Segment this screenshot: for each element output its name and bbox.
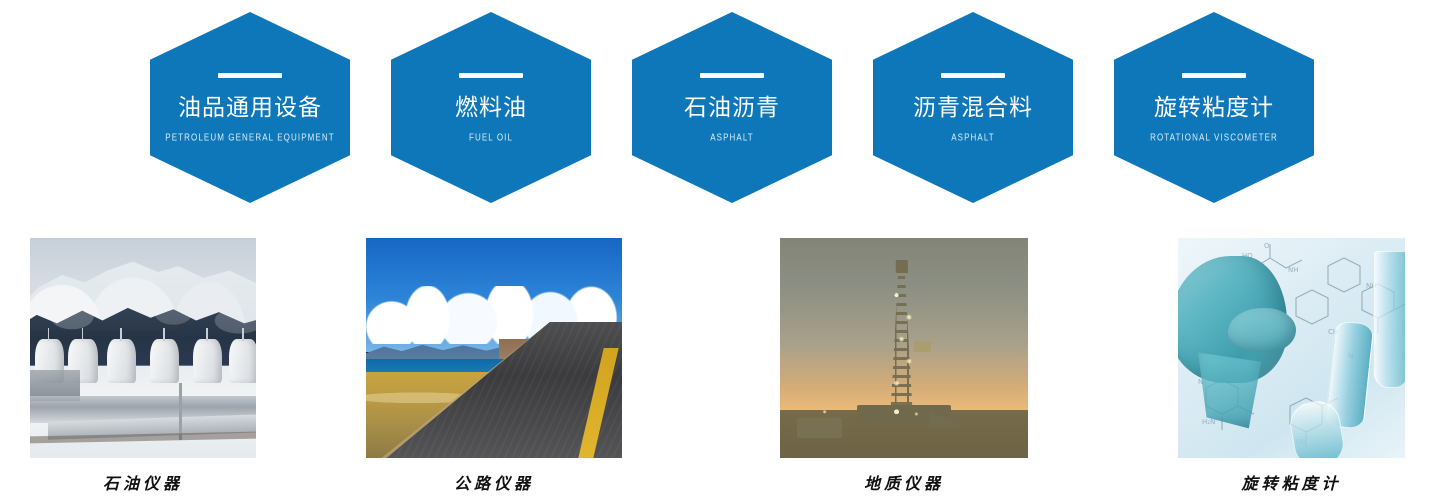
gallery-caption: 旋转粘度计 xyxy=(1178,470,1405,494)
photo-laboratory-glassware: HO NH O NH N H₂N OH CH N xyxy=(1178,238,1405,458)
rig-lights xyxy=(780,238,1028,458)
storage-tank xyxy=(229,339,256,383)
utility-pole xyxy=(179,383,182,440)
svg-text:O: O xyxy=(1264,242,1270,250)
storage-tank xyxy=(107,339,136,383)
gallery-caption: 公路仪器 xyxy=(366,470,622,494)
photo-plateau-highway xyxy=(366,238,622,458)
glove-fingers xyxy=(1228,308,1296,352)
svg-text:NH: NH xyxy=(1288,266,1299,274)
storage-tank xyxy=(193,339,222,383)
photo-gallery: 石油仪器 公路仪器 xyxy=(0,0,1440,500)
gallery-caption: 石油仪器 xyxy=(30,470,256,494)
photo-drilling-rig-sunset xyxy=(780,238,1028,458)
page-root: 油品通用设备 PETROLEUM GENERAL EQUIPMENT 燃料油 F… xyxy=(0,0,1440,500)
svg-text:H₂N: H₂N xyxy=(1202,418,1215,426)
gallery-card-petroleum-instruments[interactable]: 石油仪器 xyxy=(30,238,256,494)
gallery-card-highway-instruments[interactable]: 公路仪器 xyxy=(366,238,622,494)
gallery-card-geology-instruments[interactable]: 地质仪器 xyxy=(780,238,1028,494)
gallery-caption: 地质仪器 xyxy=(780,470,1028,494)
storage-tank xyxy=(150,339,179,383)
gallery-card-rotational-viscometer[interactable]: HO NH O NH N H₂N OH CH N xyxy=(1178,238,1405,494)
test-tube xyxy=(1373,251,1405,387)
photo-snowy-tank-farm xyxy=(30,238,256,458)
